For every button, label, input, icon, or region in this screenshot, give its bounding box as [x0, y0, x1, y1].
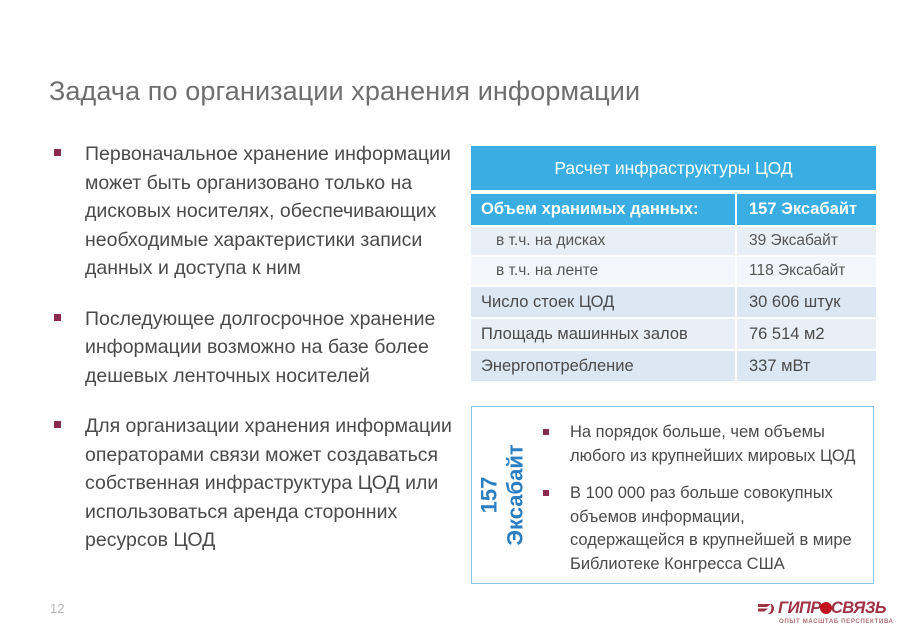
square-bullet-icon	[543, 429, 549, 435]
bullet-text: Для организации хранения информации опер…	[85, 412, 452, 555]
table-row-power: Энергопотребление 337 мВт	[471, 350, 876, 381]
table-cell-value: 39 Эксабайт	[736, 226, 876, 256]
vertical-number: 157	[477, 444, 503, 545]
callout-bullet-list: На порядок больше, чем объемы любого из …	[540, 421, 860, 576]
table-row-area: Площадь машинных залов 76 514 м2	[471, 318, 876, 350]
bullet-text: Первоначальное хранение информации может…	[85, 140, 452, 283]
page-number: 12	[50, 601, 64, 616]
logo-tagline: ОПЫТ МАСШТАБ ПЕРСПЕКТИВА	[757, 618, 883, 625]
table-cell-value: 76 514 м2	[736, 318, 876, 350]
list-item: Для организации хранения информации опер…	[52, 412, 452, 555]
table-cell-value: 30 606 штук	[736, 286, 876, 318]
slide-canvas: Задача по организации хранения информаци…	[0, 0, 918, 635]
comparison-callout-box: 157 Эксабайт На порядок больше, чем объе…	[471, 406, 874, 584]
list-item: Первоначальное хранение информации может…	[52, 140, 452, 283]
logo-wordmark: ГИПРСВЯЗЬ	[757, 600, 883, 617]
table-cell-value: 337 мВт	[736, 350, 876, 381]
logo-text-second: СВЯЗЬ	[831, 599, 886, 617]
square-bullet-icon	[543, 490, 549, 496]
table-row-tape: в т.ч. на ленте 118 Эксабайт	[471, 256, 876, 286]
left-bullet-list: Первоначальное хранение информации может…	[52, 140, 452, 555]
list-item: Последующее долгосрочное хранение информ…	[52, 305, 452, 391]
vertical-unit: Эксабайт	[503, 444, 529, 545]
table-cell-value: 157 Эксабайт	[736, 194, 876, 226]
vertical-label: 157 Эксабайт	[472, 407, 534, 583]
bullet-text: На порядок больше, чем объемы любого из …	[570, 421, 860, 468]
table-cell-value: 118 Эксабайт	[736, 256, 876, 286]
table-cell-label: Число стоек ЦОД	[471, 286, 736, 318]
arrow-swoosh-icon	[757, 602, 777, 616]
table-grid: Объем хранимых данных: 157 Эксабайт в т.…	[471, 194, 876, 381]
square-bullet-icon	[54, 314, 61, 321]
square-bullet-icon	[54, 421, 61, 428]
table-cell-label: в т.ч. на дисках	[471, 226, 736, 256]
table-row-total: Объем хранимых данных: 157 Эксабайт	[471, 194, 876, 226]
table-cell-label: Площадь машинных залов	[471, 318, 736, 350]
list-item: В 100 000 раз больше совокупных объемов …	[540, 482, 860, 576]
table-cell-label: в т.ч. на ленте	[471, 256, 736, 286]
page-title: Задача по организации хранения информаци…	[49, 74, 839, 108]
table-row-racks: Число стоек ЦОД 30 606 штук	[471, 286, 876, 318]
company-logo: ГИПРСВЯЗЬ ОПЫТ МАСШТАБ ПЕРСПЕКТИВА	[757, 600, 883, 627]
table-caption: Расчет инфраструктуры ЦОД	[471, 146, 876, 190]
bullet-text: Последующее долгосрочное хранение информ…	[85, 305, 452, 391]
square-bullet-icon	[54, 149, 61, 156]
logo-text-first: ГИПР	[778, 599, 821, 617]
table-cell-label: Энергопотребление	[471, 350, 736, 381]
datacenter-calculation-table: Расчет инфраструктуры ЦОД Объем хранимых…	[471, 146, 876, 381]
table-row-disks: в т.ч. на дисках 39 Эксабайт	[471, 226, 876, 256]
table-cell-label: Объем хранимых данных:	[471, 194, 736, 226]
bullet-text: В 100 000 раз больше совокупных объемов …	[570, 482, 860, 576]
list-item: На порядок больше, чем объемы любого из …	[540, 421, 860, 468]
